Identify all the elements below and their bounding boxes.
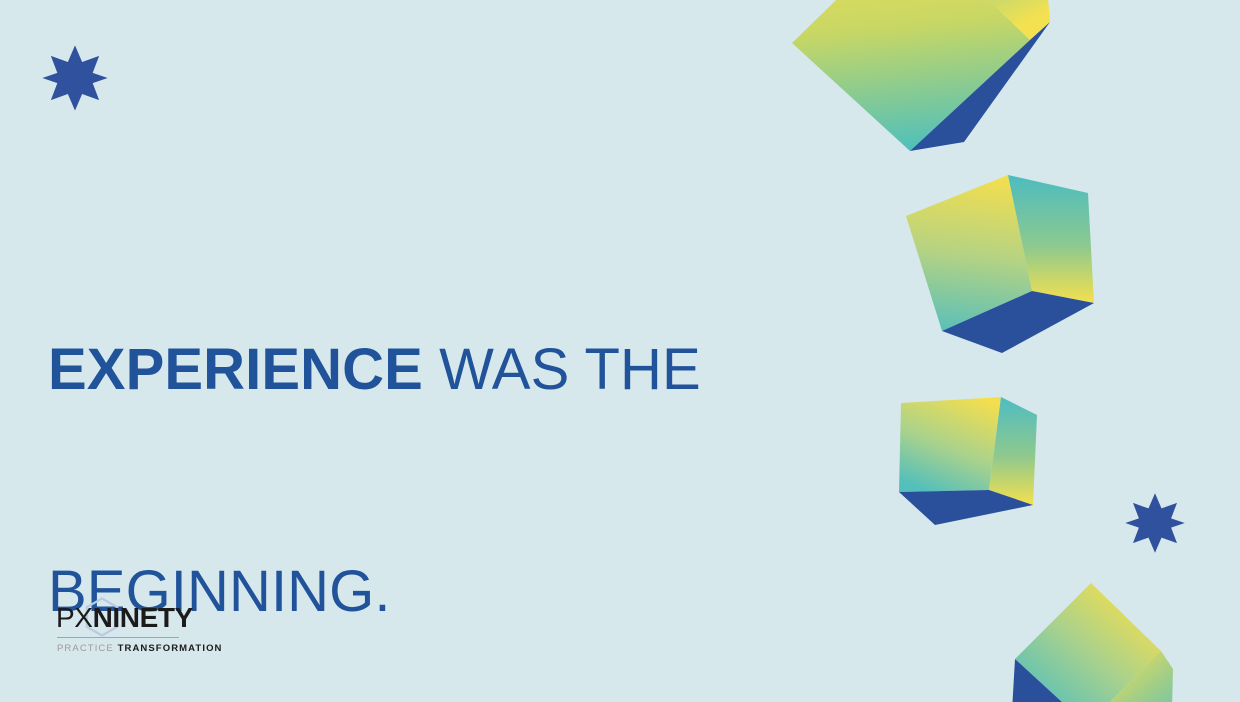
logo-ninety: NINETY [93,602,193,633]
logo-tagline: PRACTICE TRANSFORMATION [57,643,223,655]
logo-px: PX [56,602,93,633]
eight-point-star-icon [41,44,109,112]
gradient-cube-1 [782,0,1050,188]
logo-divider [57,637,179,638]
logo-tagline-practice: PRACTICE [57,643,114,654]
logo-tagline-transformation: TRANSFORMATION [114,643,223,654]
promo-slide: EXPERIENCE WAS THE BEGINNING. TRANSFORMA… [0,0,1240,702]
logo-text: PXNINETY [56,601,193,635]
headline-emphasis-experience: EXPERIENCE [48,337,423,402]
headline-line-1: EXPERIENCE WAS THE [48,333,768,407]
pxninety-logo: PXNINETY PRACTICE TRANSFORMATION [56,601,188,663]
headline-line-1-rest: WAS THE [423,337,701,402]
logo-wordmark: PXNINETY PRACTICE TRANSFORMATION [56,601,188,637]
gradient-cube-2 [898,163,1116,363]
eight-point-star-icon-secondary [1124,492,1186,554]
gradient-cube-4 [995,573,1181,702]
gradient-cube-3 [885,385,1051,551]
